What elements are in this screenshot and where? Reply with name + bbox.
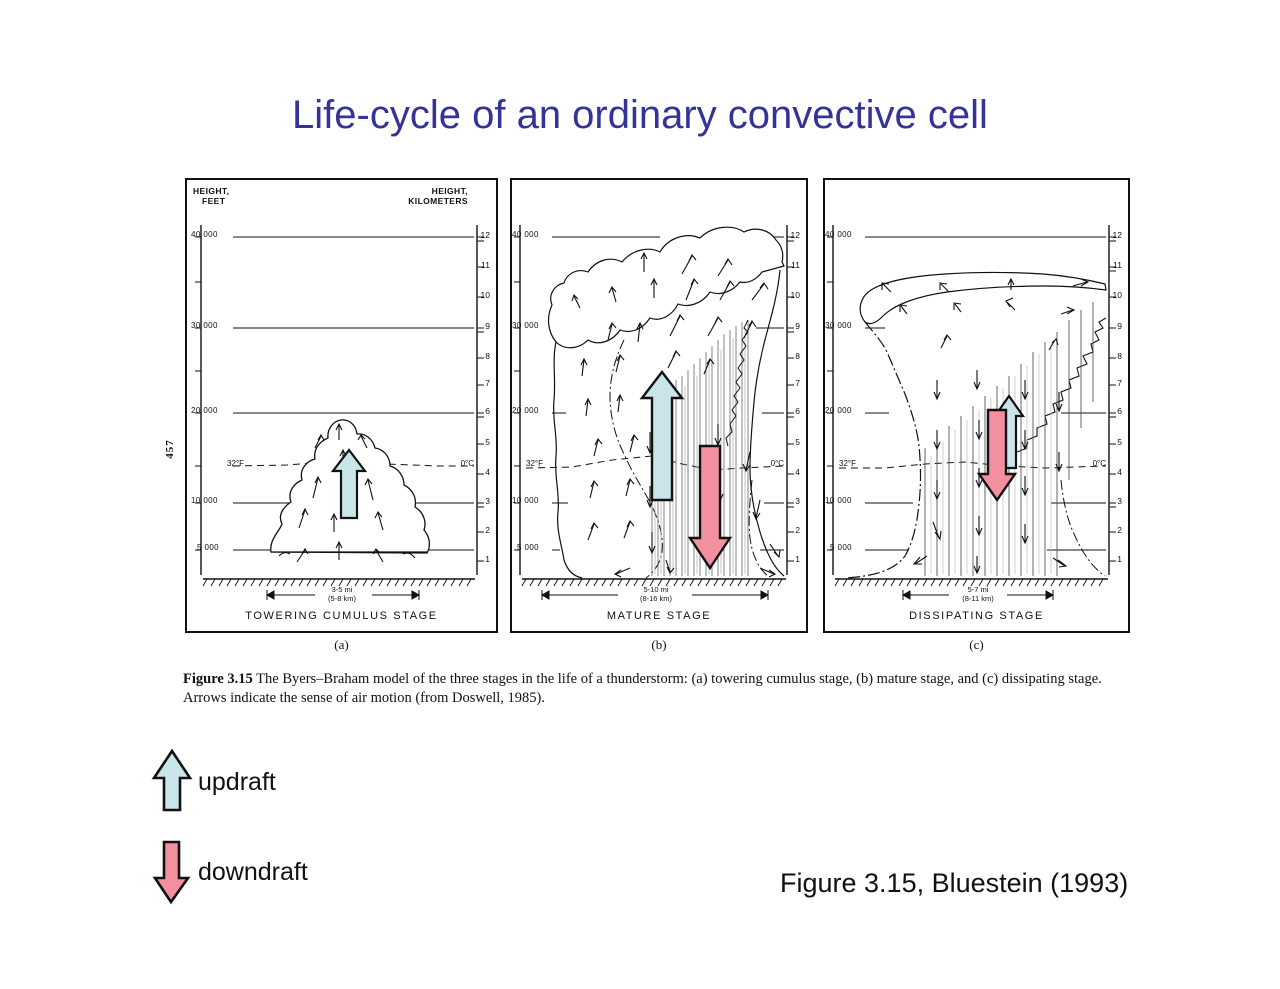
tick-km-4-c: 4 [1117,467,1122,477]
tick-km-4-b: 4 [795,467,800,477]
tick-feet-30000-c: 30 000 [825,321,852,330]
tick-km-7: 7 [485,378,490,388]
freezing-label-celsius-b: 0°C [771,459,784,468]
scale-km-a: (5-8 km) [302,594,382,603]
tick-km-1: 1 [485,554,490,564]
updraft-arrow-icon [150,748,194,814]
tick-km-11-b: 11 [791,260,800,270]
tick-km-1-b: 1 [795,554,800,564]
freezing-label-celsius-c: 0°C [1093,459,1106,468]
tick-km-11-c: 11 [1113,260,1122,270]
tick-feet-20000-b: 20 000 [512,406,539,415]
tick-feet-5000-b: 5 000 [517,543,539,552]
tick-feet-20000-c: 20 000 [825,406,852,415]
book-page-number: 457 [164,439,176,459]
tick-feet-20000: 20 000 [191,406,218,415]
tick-km-7-c: 7 [1117,378,1122,388]
scale-km-b: (8-16 km) [616,594,696,603]
tick-km-5-c: 5 [1117,437,1122,447]
tick-feet-10000-b: 10 000 [512,496,539,505]
panel-a-drawing [187,180,496,631]
scale-km-c: (8-11 km) [938,594,1018,603]
panel-towering-cumulus: HEIGHT, FEET HEIGHT, KILOMETERS [185,178,498,633]
freezing-label-fahrenheit-c: 32°F [839,459,856,468]
tick-feet-30000-b: 30 000 [512,321,539,330]
panel-letter-c: (c) [823,637,1130,659]
tick-km-10-c: 10 [1113,290,1122,300]
legend-label-downdraft: downdraft [198,858,308,887]
tick-km-3: 3 [485,496,490,506]
tick-km-3-c: 3 [1117,496,1122,506]
arrow-legend: updraft downdraft [150,748,570,918]
scale-miles-b: 5-10 mi [616,585,696,594]
tick-km-11: 11 [481,260,490,270]
source-attribution: Figure 3.15, Bluestein (1993) [780,868,1128,899]
panel-letter-a: (a) [185,637,498,659]
tick-km-12: 12 [481,230,490,240]
legend-label-updraft: updraft [198,768,276,797]
tick-km-9: 9 [485,321,490,331]
figure-caption-label: Figure 3.15 [183,671,253,687]
tick-km-9-c: 9 [1117,321,1122,331]
tick-feet-40000-c: 40 000 [825,230,852,239]
tick-km-2: 2 [485,525,490,535]
figure-caption: Figure 3.15 The Byers–Braham model of th… [183,670,1113,708]
tick-km-2-b: 2 [795,525,800,535]
tick-km-10: 10 [481,290,490,300]
tick-km-8-b: 8 [795,351,800,361]
page-title: Life-cycle of an ordinary convective cel… [0,93,1280,138]
tick-km-9-b: 9 [795,321,800,331]
stage-label-b: MATURE STAGE [512,610,806,622]
tick-km-10-b: 10 [791,290,800,300]
panel-b-drawing [512,180,806,631]
tick-feet-10000: 10 000 [191,496,218,505]
tick-feet-10000-c: 10 000 [825,496,852,505]
tick-feet-40000-b: 40 000 [512,230,539,239]
tick-km-12-c: 12 [1113,230,1122,240]
tick-km-8: 8 [485,351,490,361]
stage-label-a: TOWERING CUMULUS STAGE [187,610,496,622]
freezing-label-fahrenheit: 32°F [227,459,244,468]
panel-dissipating-stage: 40 000 30 000 20 000 10 000 5 000 12 11 … [823,178,1130,633]
tick-feet-5000: 5 000 [197,543,219,552]
tick-km-5: 5 [485,437,490,447]
tick-km-6-b: 6 [795,406,800,416]
freezing-label-fahrenheit-b: 32°F [526,459,543,468]
scale-miles-a: 3-5 mi [302,585,382,594]
legend-item-updraft: updraft [150,748,194,818]
panel-c-drawing [825,180,1128,631]
panel-mature-stage: 40 000 30 000 20 000 10 000 5 000 12 11 … [510,178,808,633]
tick-km-8-c: 8 [1117,351,1122,361]
tick-feet-30000: 30 000 [191,321,218,330]
figure-caption-text: The Byers–Braham model of the three stag… [183,671,1102,706]
tick-km-6-c: 6 [1117,406,1122,416]
tick-km-1-c: 1 [1117,554,1122,564]
scale-miles-c: 5-7 mi [938,585,1018,594]
legend-item-downdraft: downdraft [150,838,194,908]
tick-feet-40000: 40 000 [191,230,218,239]
tick-km-6: 6 [485,406,490,416]
tick-km-4: 4 [485,467,490,477]
tick-km-3-b: 3 [795,496,800,506]
freezing-label-celsius: 0°C [461,459,474,468]
tick-km-7-b: 7 [795,378,800,388]
tick-feet-5000-c: 5 000 [830,543,852,552]
downdraft-arrow-icon [150,838,194,904]
figure-3-15: 457 HEIGHT, FEET HEIGHT, KILOMETERS [155,178,1145,718]
panel-letter-b: (b) [510,637,808,659]
stage-label-c: DISSIPATING STAGE [825,610,1128,622]
tick-km-12-b: 12 [791,230,800,240]
tick-km-2-c: 2 [1117,525,1122,535]
tick-km-5-b: 5 [795,437,800,447]
